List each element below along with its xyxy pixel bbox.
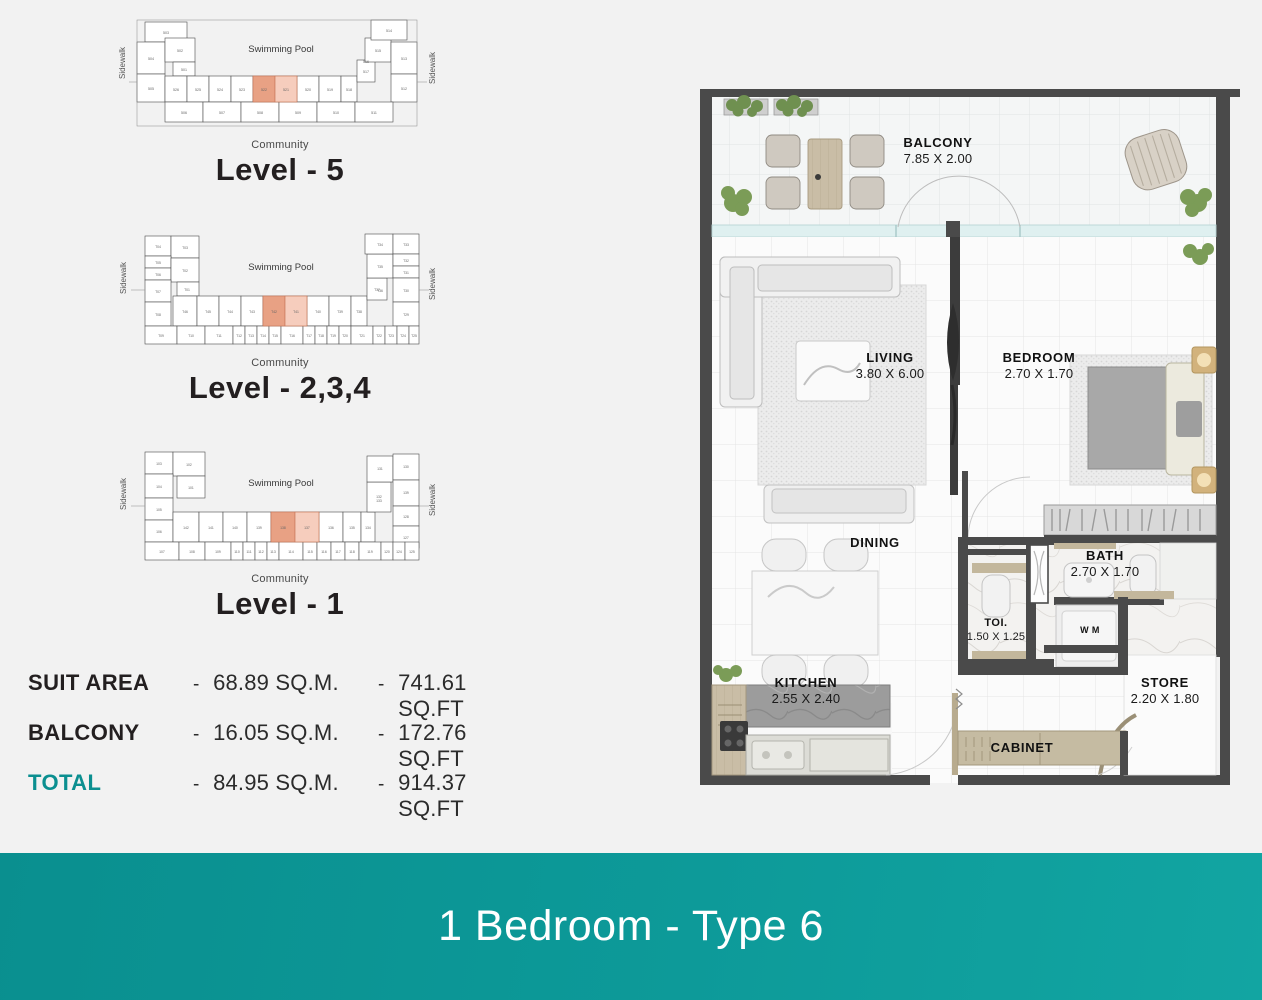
svg-text:T16: T16	[289, 334, 295, 338]
area-sqft-balcony: 172.76 SQ.FT	[398, 720, 538, 772]
svg-text:134: 134	[365, 526, 371, 530]
area-sqm-balcony: 16.05 SQ.M.	[213, 720, 364, 746]
svg-text:T25: T25	[411, 334, 417, 338]
svg-text:521: 521	[283, 88, 289, 92]
key-plan-caption-level-5: Community Level - 5	[0, 139, 560, 188]
key-plan-caption-level-1: Community Level - 1	[0, 573, 560, 622]
svg-text:T43: T43	[249, 310, 255, 314]
area-row-total: TOTAL - 84.95 SQ.M. - 914.37 SQ.FT	[28, 770, 538, 820]
svg-text:103: 103	[156, 462, 162, 466]
svg-text:138: 138	[280, 526, 286, 530]
svg-text:119: 119	[367, 550, 373, 554]
svg-text:T04: T04	[155, 245, 161, 249]
svg-text:503: 503	[163, 31, 169, 35]
svg-text:Swimming Pool: Swimming Pool	[248, 478, 313, 489]
svg-text:130: 130	[403, 465, 409, 469]
svg-text:141: 141	[208, 526, 214, 530]
key-plans-column: Swimming Pool Sidewalk Sidewalk 503502 5…	[0, 0, 560, 845]
svg-text:106: 106	[156, 530, 162, 534]
area-dash-1-total: -	[179, 774, 213, 796]
key-plan-diagram-level-5[interactable]: Swimming Pool Sidewalk Sidewalk 503502 5…	[115, 8, 445, 133]
svg-text:T38: T38	[356, 310, 362, 314]
svg-text:132: 132	[376, 495, 382, 499]
svg-text:512: 512	[401, 87, 407, 91]
svg-text:T10: T10	[188, 334, 194, 338]
svg-text:T02: T02	[182, 269, 188, 273]
svg-text:127: 127	[403, 536, 409, 540]
floor-plan-drawing[interactable]: BALCONY 7.85 X 2.00 LIVING 3.80 X 6.00 B…	[700, 85, 1240, 805]
svg-text:108: 108	[189, 550, 195, 554]
svg-text:T06: T06	[155, 273, 161, 277]
community-label-1: Community	[0, 139, 560, 151]
svg-text:142: 142	[183, 526, 189, 530]
svg-text:501: 501	[181, 68, 187, 72]
svg-text:515: 515	[375, 49, 381, 53]
key-plan-svg-level-5: Swimming Pool Sidewalk Sidewalk 503502 5…	[115, 8, 445, 133]
svg-text:T32: T32	[403, 259, 409, 263]
svg-text:508: 508	[257, 111, 263, 115]
svg-text:524: 524	[217, 88, 223, 92]
svg-text:114: 114	[288, 550, 294, 554]
area-sqft-total: 914.37 SQ.FT	[398, 770, 538, 822]
svg-text:504: 504	[148, 57, 154, 61]
level-label-2: Level - 2,3,4	[0, 370, 560, 406]
svg-text:T40: T40	[315, 310, 321, 314]
svg-text:T33: T33	[403, 243, 409, 247]
unit-type-title: 1 Bedroom - Type 6	[438, 902, 824, 951]
key-plan-diagram-level-1[interactable]: Swimming Pool Sidewalk Sidewalk 103102 1…	[115, 442, 445, 567]
area-dash-2-balcony: -	[364, 724, 398, 746]
svg-text:116: 116	[321, 550, 327, 554]
svg-text:518: 518	[346, 88, 352, 92]
svg-text:T29: T29	[403, 313, 409, 317]
svg-text:125: 125	[409, 550, 415, 554]
area-dash-1-balcony: -	[179, 724, 213, 746]
svg-text:113: 113	[270, 550, 276, 554]
svg-text:112: 112	[258, 550, 264, 554]
area-row-balcony: BALCONY - 16.05 SQ.M. - 172.76 SQ.FT	[28, 720, 538, 770]
svg-text:514: 514	[386, 29, 392, 33]
area-label-total: TOTAL	[28, 770, 179, 796]
svg-text:T31: T31	[403, 271, 409, 275]
svg-text:Sidewalk: Sidewalk	[428, 267, 437, 300]
svg-text:T11: T11	[216, 334, 222, 338]
svg-text:506: 506	[181, 111, 187, 115]
svg-text:T01: T01	[184, 288, 190, 292]
svg-text:509: 509	[295, 111, 301, 115]
svg-text:128: 128	[403, 515, 409, 519]
svg-text:139: 139	[403, 491, 409, 495]
svg-text:505: 505	[148, 87, 154, 91]
svg-text:115: 115	[307, 550, 313, 554]
svg-text:137: 137	[304, 526, 310, 530]
svg-text:T18: T18	[318, 334, 324, 338]
svg-text:502: 502	[177, 49, 183, 53]
svg-text:T09: T09	[158, 334, 164, 338]
svg-text:Sidewalk: Sidewalk	[119, 477, 128, 510]
svg-text:110: 110	[234, 550, 240, 554]
key-plan-svg-level-1: Swimming Pool Sidewalk Sidewalk 103102 1…	[115, 442, 445, 567]
area-row-suit: SUIT AREA - 68.89 SQ.M. - 741.61 SQ.FT	[28, 670, 538, 720]
community-label-3: Community	[0, 573, 560, 585]
svg-text:T19: T19	[330, 334, 336, 338]
area-label-balcony: BALCONY	[28, 720, 179, 746]
svg-text:522: 522	[261, 88, 267, 92]
svg-text:T46: T46	[182, 310, 188, 314]
svg-text:511: 511	[371, 111, 377, 115]
svg-text:140: 140	[232, 526, 238, 530]
svg-text:T39: T39	[337, 310, 343, 314]
svg-text:Sidewalk: Sidewalk	[428, 51, 437, 84]
svg-text:510: 510	[333, 111, 339, 115]
svg-text:526: 526	[173, 88, 179, 92]
svg-text:T23: T23	[388, 334, 394, 338]
svg-text:525: 525	[195, 88, 201, 92]
floor-plan-svg	[700, 85, 1240, 805]
svg-text:139: 139	[256, 526, 262, 530]
svg-text:T20: T20	[342, 334, 348, 338]
area-sqft-suit: 741.61 SQ.FT	[398, 670, 538, 722]
svg-text:Sidewalk: Sidewalk	[428, 483, 437, 516]
svg-text:120: 120	[384, 550, 390, 554]
svg-text:124: 124	[396, 550, 402, 554]
area-summary-table: SUIT AREA - 68.89 SQ.M. - 741.61 SQ.FT B…	[28, 670, 538, 820]
level-label-3: Level - 1	[0, 586, 560, 622]
floor-plan-page: Swimming Pool Sidewalk Sidewalk 503502 5…	[0, 0, 1262, 1000]
svg-text:T08: T08	[155, 313, 161, 317]
svg-text:109: 109	[215, 550, 221, 554]
svg-text:T05: T05	[155, 261, 161, 265]
key-plan-caption-level-234: Community Level - 2,3,4	[0, 357, 560, 406]
key-plan-diagram-level-234[interactable]: Swimming Pool Sidewalk Sidewalk T04T03 T…	[115, 226, 445, 351]
svg-text:T14: T14	[260, 334, 266, 338]
svg-text:T44: T44	[227, 310, 233, 314]
footer-banner: 1 Bedroom - Type 6	[0, 853, 1262, 1000]
svg-text:T12: T12	[236, 334, 242, 338]
svg-text:105: 105	[156, 508, 162, 512]
svg-text:T03: T03	[182, 246, 188, 250]
svg-text:T45: T45	[205, 310, 211, 314]
svg-text:135: 135	[349, 526, 355, 530]
svg-text:111: 111	[246, 550, 251, 554]
svg-text:102: 102	[186, 463, 192, 467]
svg-text:523: 523	[239, 88, 245, 92]
level-label-1: Level - 5	[0, 152, 560, 188]
svg-text:Swimming Pool: Swimming Pool	[248, 262, 313, 273]
svg-text:T42: T42	[271, 310, 277, 314]
svg-text:T41: T41	[293, 310, 299, 314]
svg-text:T15: T15	[272, 334, 278, 338]
svg-text:520: 520	[305, 88, 311, 92]
svg-text:133: 133	[376, 499, 382, 503]
svg-text:T21: T21	[359, 334, 365, 338]
svg-text:T30: T30	[403, 289, 409, 293]
svg-text:516: 516	[363, 60, 369, 64]
area-dash-1-suit: -	[179, 674, 213, 696]
svg-text:T24: T24	[400, 334, 406, 338]
area-sqm-total: 84.95 SQ.M.	[213, 770, 364, 796]
svg-text:Swimming Pool: Swimming Pool	[248, 44, 313, 55]
svg-text:T34: T34	[377, 243, 383, 247]
area-dash-2-total: -	[364, 774, 398, 796]
svg-text:T17: T17	[306, 334, 312, 338]
svg-text:517: 517	[363, 70, 369, 74]
community-label-2: Community	[0, 357, 560, 369]
key-plan-level-234[interactable]: Swimming Pool Sidewalk Sidewalk T04T03 T…	[0, 226, 560, 406]
svg-text:507: 507	[219, 111, 225, 115]
svg-text:Sidewalk: Sidewalk	[119, 261, 128, 294]
svg-text:513: 513	[401, 57, 407, 61]
key-plan-level-5[interactable]: Swimming Pool Sidewalk Sidewalk 503502 5…	[0, 8, 560, 188]
svg-text:T22: T22	[376, 334, 382, 338]
svg-text:T07: T07	[155, 290, 161, 294]
svg-text:T36: T36	[377, 289, 383, 293]
svg-text:T13: T13	[248, 334, 254, 338]
area-dash-2-suit: -	[364, 674, 398, 696]
svg-text:Sidewalk: Sidewalk	[118, 46, 127, 79]
svg-text:519: 519	[327, 88, 333, 92]
svg-text:101: 101	[188, 486, 194, 490]
svg-text:131: 131	[377, 467, 383, 471]
key-plan-level-1[interactable]: Swimming Pool Sidewalk Sidewalk 103102 1…	[0, 442, 560, 622]
svg-text:118: 118	[349, 550, 355, 554]
svg-text:117: 117	[335, 550, 341, 554]
svg-text:T35: T35	[377, 265, 383, 269]
key-plan-svg-level-234: Swimming Pool Sidewalk Sidewalk T04T03 T…	[115, 226, 445, 351]
area-sqm-suit: 68.89 SQ.M.	[213, 670, 364, 696]
svg-text:107: 107	[159, 550, 165, 554]
svg-text:136: 136	[328, 526, 334, 530]
area-label-suit: SUIT AREA	[28, 670, 179, 696]
svg-text:104: 104	[156, 485, 162, 489]
